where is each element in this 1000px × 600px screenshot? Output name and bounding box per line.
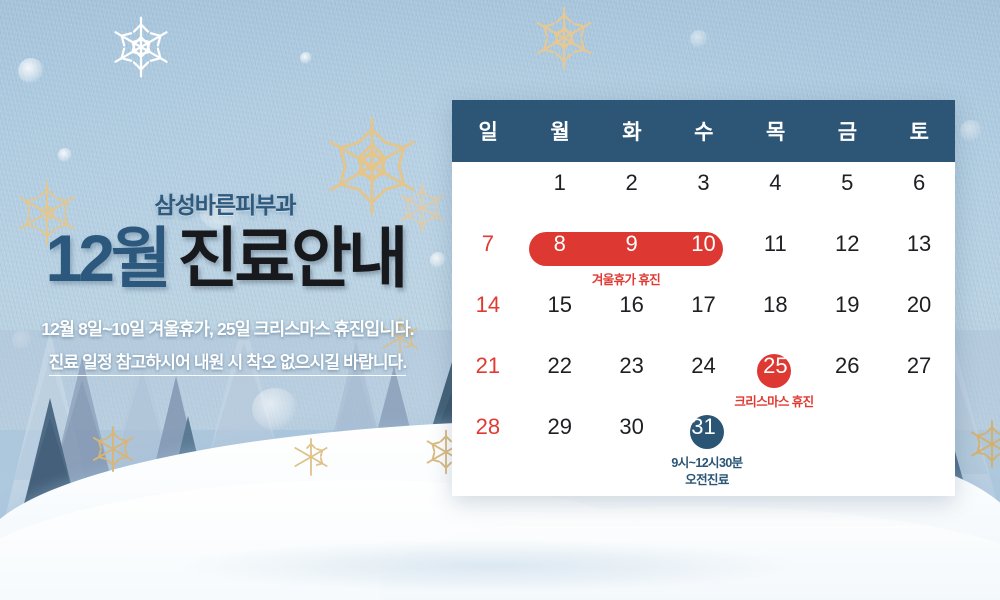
- day-cell[interactable]: 15: [524, 284, 596, 345]
- clinic-name: 삼성바른피부과: [0, 186, 450, 220]
- day-number: 12: [835, 233, 859, 255]
- calendar-card: 일 월 화 수 목 금 토 1 2 3 4 5 6 7 8 9 10 11 12: [452, 100, 955, 496]
- day-number: 27: [907, 355, 931, 377]
- winter-break-note: 겨울휴가 휴진: [556, 272, 696, 289]
- weekday-thu: 목: [739, 100, 811, 162]
- page-title: 12월진료안내: [0, 224, 450, 293]
- newyear-hours: 9시~12시30분: [637, 455, 777, 472]
- day-number: 15: [548, 294, 572, 316]
- weekday-sun: 일: [452, 100, 524, 162]
- day-cell[interactable]: 21: [452, 345, 524, 406]
- day-cell: [811, 406, 883, 467]
- day-number: 18: [763, 294, 787, 316]
- day-number: 28: [476, 416, 500, 438]
- weekday-fri: 금: [811, 100, 883, 162]
- calendar-week-row: 1 2 3 4 5 6: [452, 162, 955, 223]
- day-number: 6: [913, 172, 925, 194]
- day-cell[interactable]: 13: [883, 223, 955, 284]
- snowflake-icon: [528, 2, 600, 74]
- day-cell[interactable]: 27: [883, 345, 955, 406]
- bokeh-light: [690, 30, 708, 48]
- day-number: 7: [482, 233, 494, 255]
- day-cell[interactable]: 22: [524, 345, 596, 406]
- day-cell[interactable]: 19: [811, 284, 883, 345]
- day-cell[interactable]: 23: [596, 345, 668, 406]
- day-number: 17: [691, 294, 715, 316]
- snowflake-icon: [106, 12, 176, 82]
- subtitle-line-1: 12월 8일~10일 겨울휴가, 25일 크리스마스 휴진입니다.: [0, 316, 455, 341]
- day-cell[interactable]: 7: [452, 223, 524, 284]
- day-number: 13: [907, 233, 931, 255]
- snowflake-icon: [286, 432, 336, 482]
- bokeh-light: [58, 148, 72, 162]
- newyear-note: 9시~12시30분 오전진료: [637, 455, 777, 488]
- title-month: 12월: [45, 221, 167, 295]
- day-number: 5: [841, 172, 853, 194]
- day-cell[interactable]: 29: [524, 406, 596, 467]
- title-main: 진료안내: [178, 221, 405, 295]
- weekday-tue: 화: [596, 100, 668, 162]
- day-number: 3: [697, 172, 709, 194]
- day-number: 19: [835, 294, 859, 316]
- day-cell[interactable]: 20: [883, 284, 955, 345]
- bokeh-light: [252, 388, 298, 430]
- headline-block: 삼성바른피부과 12월진료안내: [0, 186, 450, 293]
- snowflake-icon: [84, 420, 142, 478]
- day-cell: [883, 406, 955, 467]
- bokeh-light: [300, 52, 312, 64]
- day-number: 26: [835, 355, 859, 377]
- day-number: 25: [763, 355, 787, 377]
- day-number: 31: [691, 416, 715, 438]
- calendar-weekday-header: 일 월 화 수 목 금 토: [452, 100, 955, 162]
- snowflake-icon: [962, 414, 1000, 474]
- day-number: 21: [476, 355, 500, 377]
- day-cell[interactable]: 14: [452, 284, 524, 345]
- day-cell[interactable]: 2: [596, 162, 668, 223]
- day-cell[interactable]: 11: [739, 223, 811, 284]
- calendar-grid: 1 2 3 4 5 6 7 8 9 10 11 12 13 14 15 16 1…: [452, 162, 955, 496]
- day-number: 1: [554, 172, 566, 194]
- christmas-note: 크리스마스 휴진: [704, 394, 844, 411]
- day-number: 8: [554, 233, 566, 255]
- day-number: 2: [626, 172, 638, 194]
- day-cell: [452, 162, 524, 223]
- day-number: 23: [619, 355, 643, 377]
- day-cell[interactable]: 3: [668, 162, 740, 223]
- day-number: 16: [619, 294, 643, 316]
- subtitle-block: 12월 8일~10일 겨울휴가, 25일 크리스마스 휴진입니다. 진료 일정 …: [0, 316, 455, 376]
- day-cell[interactable]: 16: [596, 284, 668, 345]
- day-number: 29: [548, 416, 572, 438]
- day-number: 9: [626, 233, 638, 255]
- day-cell[interactable]: 5: [811, 162, 883, 223]
- newyear-label: 오전진료: [637, 472, 777, 489]
- day-number: 10: [691, 233, 715, 255]
- day-number: 4: [769, 172, 781, 194]
- day-number: 14: [476, 294, 500, 316]
- bokeh-light: [960, 120, 982, 142]
- day-cell[interactable]: 28: [452, 406, 524, 467]
- day-cell[interactable]: 6: [883, 162, 955, 223]
- day-number: 24: [691, 355, 715, 377]
- day-number: 11: [764, 233, 787, 255]
- subtitle-line-2: 진료 일정 참고하시어 내원 시 착오 없으시길 바랍니다.: [49, 348, 407, 376]
- calendar-week-row: 14 15 16 17 18 19 20: [452, 284, 955, 345]
- weekday-wed: 수: [668, 100, 740, 162]
- calendar-week-row: 7 8 9 10 11 12 13: [452, 223, 955, 284]
- day-cell[interactable]: 17: [668, 284, 740, 345]
- day-cell[interactable]: 4: [739, 162, 811, 223]
- day-cell[interactable]: 1: [524, 162, 596, 223]
- bokeh-light: [18, 58, 44, 84]
- day-number: 22: [548, 355, 572, 377]
- weekday-mon: 월: [524, 100, 596, 162]
- day-cell[interactable]: 12: [811, 223, 883, 284]
- weekday-sat: 토: [883, 100, 955, 162]
- snow-shadow: [180, 540, 800, 592]
- day-number: 20: [907, 294, 931, 316]
- day-cell[interactable]: 18: [739, 284, 811, 345]
- day-number: 30: [619, 416, 643, 438]
